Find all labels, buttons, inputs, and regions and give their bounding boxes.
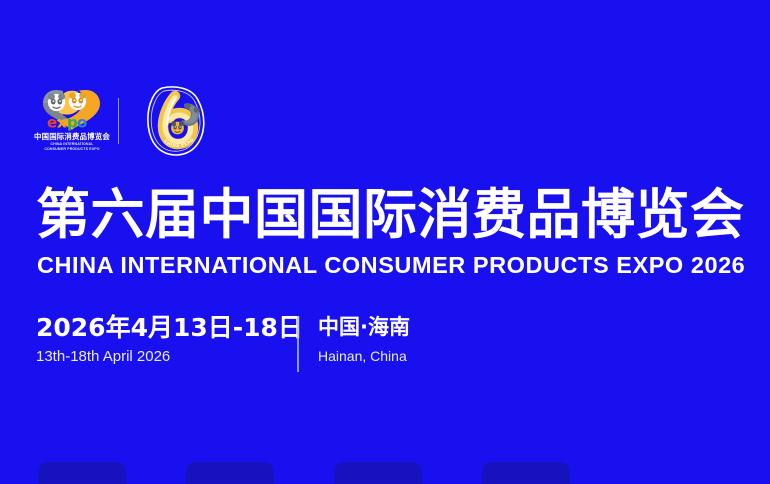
logo-row: e x p o 中国国际消费品博览会 CHINA INTERNATIONAL C… (26, 82, 226, 160)
bottom-card-1 (38, 462, 126, 484)
stylized-six-with-panda-icon: CHINA EXPO (136, 82, 214, 160)
page-subtitle: CHINA INTERNATIONAL CONSUMER PRODUCTS EX… (37, 252, 745, 278)
event-date-english: 13th-18th April 2026 (36, 346, 303, 368)
logo-separator (118, 98, 119, 144)
expo-wordmark-icon: e x p o (26, 112, 118, 132)
event-location-chinese: 中国·海南 (318, 312, 410, 342)
expo-logo-chinese-name: 中国国际消费品博览会 (26, 132, 118, 141)
page-title: 第六届中国国际消费品博览会 (36, 186, 745, 244)
svg-text:o: o (77, 114, 87, 132)
sixth-edition-emblem: CHINA EXPO (136, 82, 214, 160)
expo-poster: e x p o 中国国际消费品博览会 CHINA INTERNATIONAL C… (0, 0, 770, 484)
expo-logo-english-line2: CONSUMER PRODUCTS EXPO (26, 147, 118, 152)
event-date-block: 2026年4月13日-18日 13th-18th April 2026 (36, 312, 303, 368)
bottom-card-2 (186, 462, 274, 484)
bottom-card-strip (0, 462, 770, 484)
event-location-english: Hainan, China (318, 345, 410, 367)
event-date-chinese: 2026年4月13日-18日 (36, 312, 303, 343)
bottom-card-3 (334, 462, 422, 484)
event-location-block: 中国·海南 Hainan, China (318, 312, 410, 367)
svg-text:e: e (47, 114, 57, 132)
bottom-card-4 (482, 462, 570, 484)
svg-text:x: x (57, 114, 67, 132)
expo-logo: e x p o 中国国际消费品博览会 CHINA INTERNATIONAL C… (26, 82, 118, 154)
info-separator (297, 316, 299, 372)
expo-logo-english-name: CHINA INTERNATIONAL CONSUMER PRODUCTS EX… (26, 142, 118, 151)
